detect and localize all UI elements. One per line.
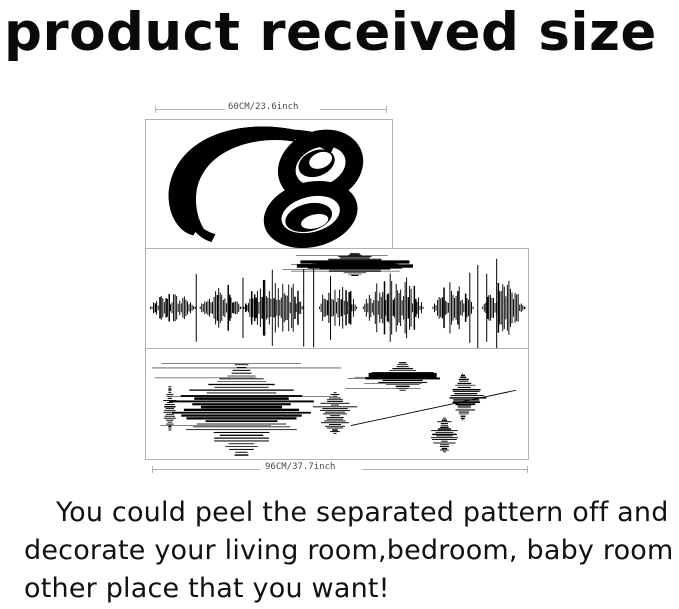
caption-line-3: other place that you want! <box>24 570 664 608</box>
instruction-caption: You could peel the separated pattern off… <box>24 494 664 608</box>
dimension-line-top-left <box>155 109 225 110</box>
waveform-panel-bottom <box>145 348 529 460</box>
dimension-label-top-width: 60CM/23.6inch <box>228 102 298 112</box>
caption-line-1: You could peel the separated pattern off… <box>24 494 664 532</box>
dimension-line-bottom-right <box>362 469 527 470</box>
headphones-panel <box>145 119 393 249</box>
caption-line-2: decorate your living room,bedroom, baby … <box>24 532 664 570</box>
dimension-tick-bottom-left <box>152 466 153 473</box>
dimension-line-bottom-left <box>152 469 260 470</box>
audio-waveform-graphic-bottom <box>146 349 528 459</box>
dimension-tick-bottom-right <box>527 466 528 473</box>
audio-waveform-graphic-middle <box>146 249 528 348</box>
headphones-silhouette-icon <box>146 120 392 248</box>
waveform-panel-middle <box>145 248 529 349</box>
dimension-label-bottom-width: 96CM/37.7inch <box>265 462 335 472</box>
page-title: product received size <box>4 2 679 68</box>
dimension-tick-top-left <box>155 106 156 113</box>
dimension-tick-top-right <box>386 106 387 113</box>
dimension-line-top-right <box>320 109 386 110</box>
size-diagram: 60CM/23.6inch 38CM/14.9inch 30CM/11.8inc… <box>0 96 679 486</box>
